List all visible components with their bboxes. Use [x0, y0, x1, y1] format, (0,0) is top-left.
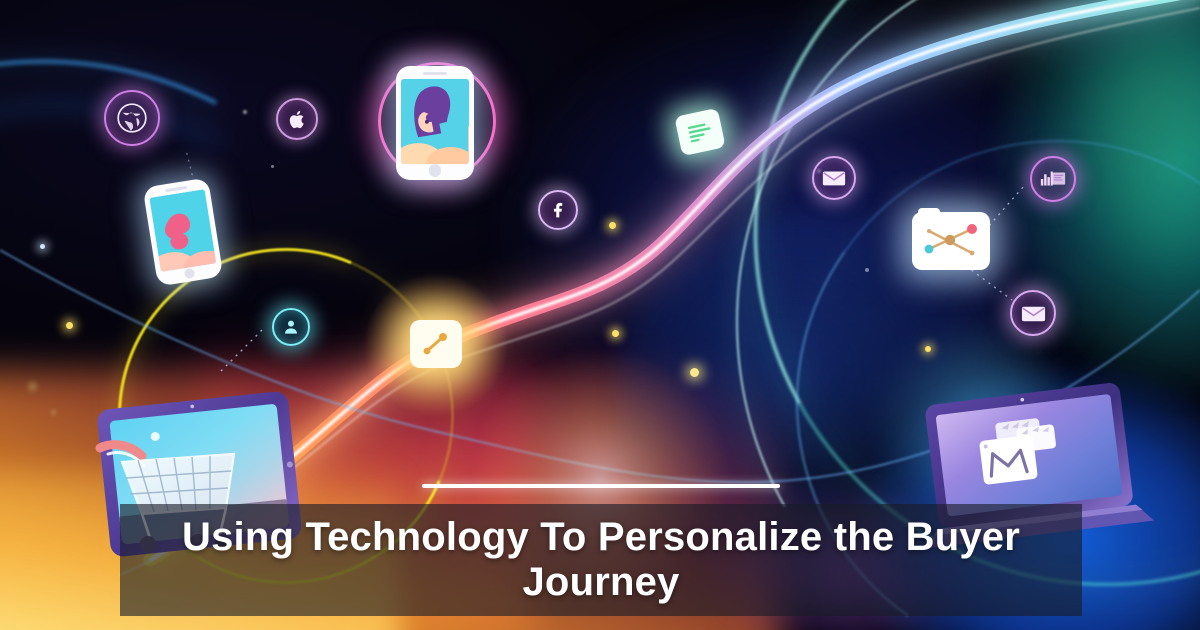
envelope-icon-1[interactable]	[812, 156, 856, 200]
smartphone-top[interactable]	[396, 66, 474, 180]
facebook-glyph	[547, 199, 569, 221]
user-profile-icon[interactable]	[272, 308, 310, 346]
sparkle-dot	[925, 346, 931, 352]
sparkle-dot	[612, 330, 619, 337]
page-title-line-1: Using Technology To Personalize the Buye…	[182, 515, 1020, 559]
sparkle-dot	[66, 322, 73, 329]
share-node-icon[interactable]	[410, 320, 462, 368]
phone-screen	[401, 79, 468, 165]
chat-lines-glyph	[685, 119, 715, 146]
facebook-icon[interactable]	[538, 190, 578, 230]
globe-icon[interactable]	[104, 90, 160, 146]
network-chart-icon[interactable]	[912, 212, 990, 270]
phone-wallpaper	[401, 79, 468, 165]
phone-home-button	[184, 267, 196, 279]
globe-glyph	[115, 101, 149, 135]
apple-glyph	[285, 107, 309, 131]
title-divider	[422, 484, 780, 488]
sparkle-dot	[243, 110, 247, 114]
page-title-line-2: Journey	[522, 560, 679, 604]
user-glyph	[281, 317, 301, 337]
sparkle-dot	[51, 410, 56, 415]
sparkle-dot	[271, 165, 274, 168]
banner-graphic: Using Technology To Personalize the Buye…	[0, 0, 1200, 630]
card-tab	[918, 208, 940, 216]
sparkle-dot	[690, 368, 699, 377]
envelope-glyph	[821, 168, 847, 188]
phone-wallpaper	[149, 189, 217, 272]
phone-screen	[149, 189, 217, 272]
sparkle-dot	[609, 222, 616, 229]
apple-icon[interactable]	[276, 98, 318, 140]
envelope-icon-2[interactable]	[1010, 290, 1056, 336]
bar-chart-icon[interactable]	[1030, 156, 1076, 202]
sparkle-dot	[28, 382, 37, 391]
phone-speaker	[166, 186, 187, 192]
sparkle-dot	[40, 244, 45, 249]
phone-speaker	[423, 72, 448, 75]
phone-home-button	[429, 164, 441, 176]
envelope-glyph	[1020, 303, 1047, 324]
sparkle-dot	[865, 268, 869, 272]
title-overlay: Using Technology To Personalize the Buye…	[120, 504, 1082, 616]
page-title: Using Technology To Personalize the Buye…	[136, 515, 1066, 605]
network-glyph	[920, 219, 982, 263]
share-glyph	[421, 331, 451, 357]
bar-chart-glyph	[1039, 167, 1067, 191]
